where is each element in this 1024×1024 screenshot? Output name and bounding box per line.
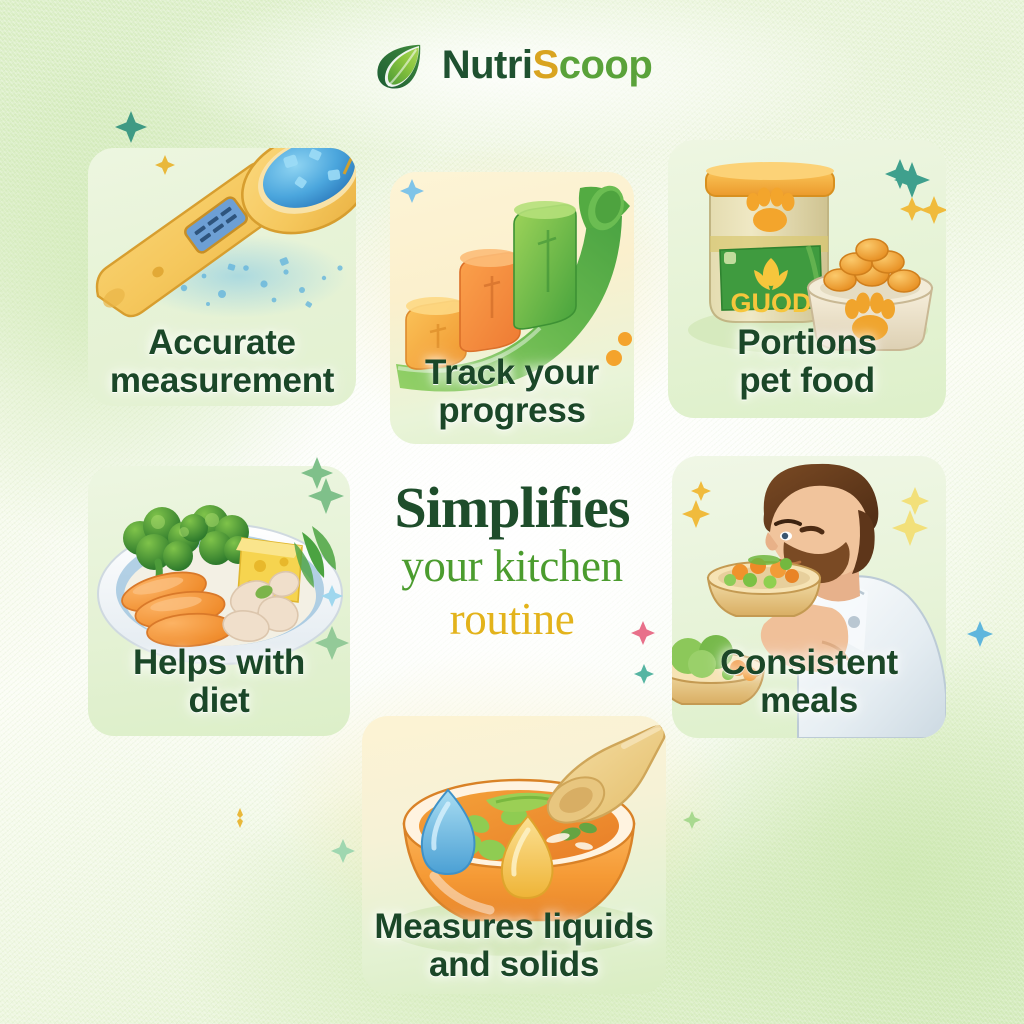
infographic-canvas: NutriScoop xyxy=(0,0,1024,1024)
headline-block: Simplifies your kitchen routine xyxy=(330,478,694,644)
sparkle-icon xyxy=(899,196,925,222)
caption-line-1: Consistent xyxy=(680,644,938,682)
sparkle-icon xyxy=(330,838,356,864)
sparkle-icon xyxy=(154,154,176,176)
caption-line-2: and solids xyxy=(370,946,658,984)
leaf-icon xyxy=(372,37,428,93)
brand-name-part1: Nutri xyxy=(442,43,533,87)
card-caption-consistent: Consistent meals xyxy=(672,644,946,738)
sparkle-icon xyxy=(966,620,994,648)
benefit-card-helps-with-diet[interactable]: Helps with diet xyxy=(88,466,350,736)
jar-label-text: GUOD xyxy=(731,288,812,318)
benefit-card-track-progress[interactable]: Track your progress xyxy=(390,172,634,444)
headline-line-2: your kitchen xyxy=(330,541,694,591)
sparkle-icon xyxy=(682,810,702,830)
sparkle-icon xyxy=(399,178,425,204)
caption-line-2: meals xyxy=(680,682,938,720)
card-caption-measures: Measures liquids and solids xyxy=(362,908,666,994)
headline-line-3: routine xyxy=(330,594,694,644)
caption-line-1: Helps with xyxy=(96,644,342,682)
headline-line-1: Simplifies xyxy=(330,478,694,537)
brand-logo: NutriScoop xyxy=(0,30,1024,100)
sparkle-icon xyxy=(900,486,930,516)
card-caption-portions: Portions pet food xyxy=(668,324,946,418)
sparkle-icon xyxy=(616,330,634,348)
card-caption-diet: Helps with diet xyxy=(88,644,350,736)
card-caption-accurate: Accurate measurement xyxy=(88,324,356,406)
sparkle-icon xyxy=(884,158,916,190)
sparkle-icon xyxy=(114,110,148,144)
sparkle-icon xyxy=(228,806,252,830)
benefit-card-accurate-measurement[interactable]: Accurate measurement xyxy=(88,148,356,406)
benefit-card-measures-liquids-solids[interactable]: Measures liquids and solids xyxy=(362,716,666,994)
caption-line-1: Measures liquids xyxy=(370,908,658,946)
brand-name-part3: coop xyxy=(559,43,653,87)
caption-line-1: Portions xyxy=(676,324,938,362)
caption-line-2: progress xyxy=(398,392,626,430)
caption-line-1: Track your xyxy=(398,354,626,392)
brand-wordmark: NutriScoop xyxy=(442,45,653,85)
caption-line-1: Accurate xyxy=(96,324,348,362)
card-caption-track: Track your progress xyxy=(390,354,634,444)
caption-line-2: pet food xyxy=(676,362,938,400)
sparkle-icon xyxy=(300,456,334,490)
caption-line-2: measurement xyxy=(96,362,348,400)
caption-line-2: diet xyxy=(96,682,342,720)
sparkle-icon xyxy=(633,663,655,685)
brand-name-part2: S xyxy=(533,43,559,87)
